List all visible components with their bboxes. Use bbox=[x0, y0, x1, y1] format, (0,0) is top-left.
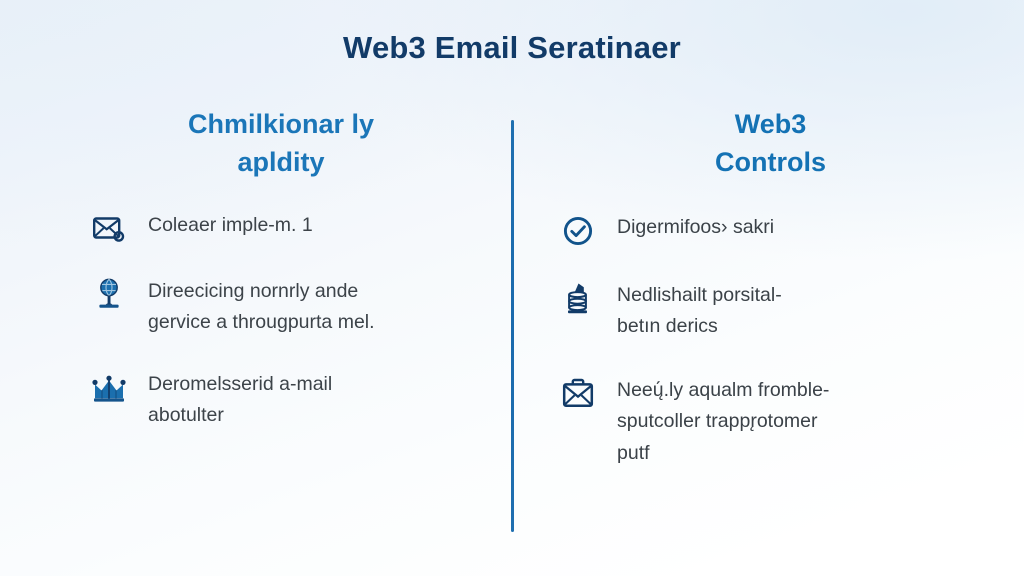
envelope-loop-icon bbox=[88, 212, 130, 246]
slide-canvas: Web3 Email Seratinaer Chmilkionar ly apl… bbox=[0, 0, 1024, 576]
list-item: Coleaer imple-m. 1 bbox=[88, 210, 474, 246]
globe-stand-icon bbox=[88, 278, 130, 312]
list-item-text: Nedlishailt porsital- betın derics bbox=[617, 280, 782, 343]
right-column-list: Digermifoos› sakri Nedlishailt po bbox=[557, 212, 984, 470]
two-column-layout: Chmilkionar ly apldity Coleaer imple-m. … bbox=[0, 105, 1024, 565]
briefcase-envelope-icon bbox=[557, 377, 599, 411]
list-item-text: Coleaer imple-m. 1 bbox=[148, 210, 313, 242]
left-column-list: Coleaer imple-m. 1 Direecicing no bbox=[88, 210, 474, 432]
check-circle-icon bbox=[557, 214, 599, 248]
server-stack-icon bbox=[557, 282, 599, 316]
list-item: Direecicing nornrly ande gervice a throu… bbox=[88, 276, 474, 339]
list-item-text: Digermifoos› sakri bbox=[617, 212, 774, 244]
list-item: Digermifoos› sakri bbox=[557, 212, 984, 248]
list-item: Deromelsserid a-mail abotulter bbox=[88, 369, 474, 432]
right-column: Web3 Controls Digermifoos› sakri bbox=[512, 105, 1024, 565]
crown-icon bbox=[88, 371, 130, 405]
list-item-text: Deromelsserid a-mail abotulter bbox=[148, 369, 332, 432]
list-item-text: Neeų́.ly aqualm fromble- sputcoller trap… bbox=[617, 375, 829, 470]
list-item-text: Direecicing nornrly ande gervice a throu… bbox=[148, 276, 375, 339]
right-column-heading: Web3 Controls bbox=[557, 105, 984, 182]
left-column: Chmilkionar ly apldity Coleaer imple-m. … bbox=[0, 105, 512, 565]
list-item: Nedlishailt porsital- betın derics bbox=[557, 280, 984, 343]
page-title: Web3 Email Seratinaer bbox=[0, 30, 1024, 66]
left-column-heading: Chmilkionar ly apldity bbox=[88, 105, 474, 182]
list-item: Neeų́.ly aqualm fromble- sputcoller trap… bbox=[557, 375, 984, 470]
